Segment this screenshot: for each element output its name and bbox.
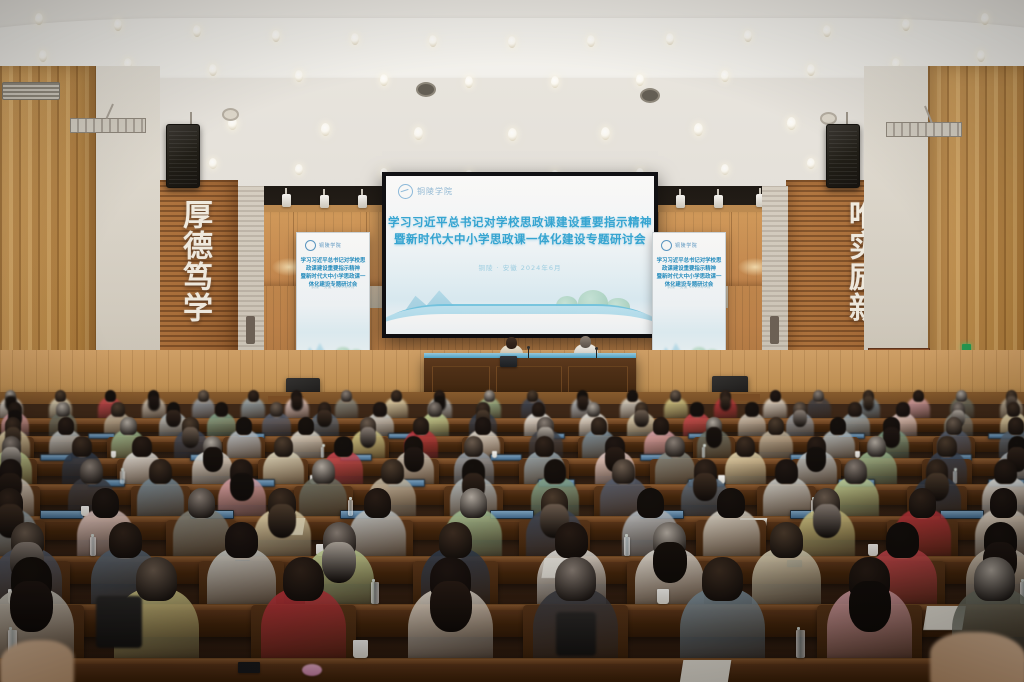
banner-logo-left: 铜陵学院 (305, 240, 341, 251)
audience-person-head (627, 390, 638, 403)
ceiling-downlight (272, 30, 280, 42)
water-bottle (702, 447, 706, 458)
audience-person-head (105, 390, 116, 403)
audience-person-head (670, 390, 681, 403)
audience-person-head (225, 522, 258, 558)
audience-person-long-hair (634, 410, 648, 427)
ceiling-downlight (193, 25, 201, 37)
audience-person-head (215, 402, 229, 417)
audience-person-head (896, 402, 910, 417)
audience-desk (0, 658, 1024, 682)
speaker-grill (169, 128, 197, 184)
audience-person-head (1008, 417, 1024, 435)
audience-person-head (198, 390, 209, 403)
water-bottle (348, 500, 353, 516)
audience-person-head (591, 417, 607, 435)
audience-person-head (745, 402, 759, 417)
ceiling-downlight (807, 64, 815, 76)
screen-title-line-2: 暨新时代大中小学思政课一体化建设专题研讨会 (386, 231, 654, 248)
ceiling-downlight (787, 117, 796, 130)
audience-person-head (55, 390, 66, 403)
audience-person-head (248, 390, 259, 403)
speaker-hanger-left (190, 112, 192, 124)
university-emblem-icon (305, 240, 316, 251)
lighting-truss-left (70, 118, 146, 133)
ceiling-downlight (807, 158, 815, 169)
audience-person-head (464, 436, 483, 457)
audience-person-long-hair (720, 396, 732, 410)
audience-person-head (974, 557, 1015, 601)
audience-person-head (848, 402, 862, 417)
audience-person-long-hair (203, 447, 223, 471)
ceiling-downlight (295, 70, 303, 82)
audience-person-long-hair (360, 427, 377, 447)
smartphone (238, 662, 260, 673)
audience-person-long-hair (793, 410, 807, 427)
audience-person-head (913, 390, 924, 403)
audience-person-head (413, 417, 429, 435)
audience-person-head (555, 522, 588, 558)
audience-person-head (460, 488, 487, 518)
ceiling-downlight (508, 36, 516, 48)
audience-person-head (702, 557, 743, 601)
ceiling-downlight (551, 76, 559, 88)
podium-trim (424, 353, 636, 358)
ceiling-downlight (981, 13, 989, 25)
audience-person-head (990, 488, 1017, 518)
audience-person-long-hair (863, 396, 875, 410)
audience-person-head (587, 402, 601, 417)
paper-cup (353, 640, 368, 659)
foreground-arm-right (930, 632, 1024, 682)
audience-person-head (58, 417, 74, 435)
backpack (556, 612, 596, 656)
audience-person-head (475, 417, 491, 435)
ceiling-downlight (39, 50, 47, 62)
paper-sheet (678, 660, 731, 682)
stage-spotlight (676, 195, 685, 208)
audience-person-head (532, 402, 546, 417)
speaker-grill (829, 128, 857, 184)
ceiling-downlight (902, 19, 910, 31)
wall-calligraphy-left: 厚德笃学 (152, 186, 212, 336)
microphone-icon (527, 346, 530, 349)
audience-person-long-hair (404, 447, 424, 471)
banner-logo-right: 铜陵学院 (661, 240, 697, 251)
audience-person-long-hair (230, 473, 254, 502)
audience-person-head (830, 417, 846, 435)
screen-title-line-1: 学习习近平总书记对学校思政课建设重要指示精神 (386, 214, 654, 231)
ceiling-downlight (587, 35, 595, 47)
audience-person-head (270, 402, 284, 417)
conference-hall-photo: 厚德笃学 唯实励新 铜陵学院 学习习近平总书记对学校思政课建设重要指示精神 暨新… (0, 0, 1024, 682)
screen-wave-3 (386, 314, 654, 334)
ceiling-diffuser-left (222, 108, 239, 121)
audience-person-long-hair (182, 427, 199, 447)
ceiling-downlight (351, 33, 359, 45)
audience-person-head (341, 390, 352, 403)
ceiling-downlight (380, 74, 388, 86)
audience-person-head (136, 557, 177, 601)
audience-person-head (768, 417, 784, 435)
pilaster-niche-left (246, 316, 255, 344)
audience-person-head (391, 390, 402, 403)
audience-person-long-hair (10, 581, 52, 632)
audience-person-head (665, 436, 684, 457)
air-vent-left (2, 82, 60, 100)
projection-screen-frame: 铜陵学院 学习习近平总书记对学校思政课建设重要指示精神 暨新时代大中小学思政课一… (382, 172, 658, 338)
panelist-laptop (500, 356, 517, 367)
audience-person-head (690, 402, 704, 417)
audience-person-head (844, 459, 867, 484)
tote-bag (96, 596, 142, 648)
audience-person-head (111, 402, 125, 417)
panelist-head (506, 337, 517, 349)
audience-person-head (612, 459, 635, 484)
audience-person-head (956, 390, 967, 403)
banner-logo-wordmark: 铜陵学院 (319, 242, 341, 249)
screen-logo-wordmark: 铜陵学院 (417, 186, 453, 197)
audience-person-head (283, 557, 324, 601)
audience-desk (0, 418, 1024, 432)
water-bottle (90, 537, 96, 556)
audience-person-head (312, 459, 335, 484)
ceiling-downlight (823, 25, 831, 37)
audience-person-head (1007, 402, 1021, 417)
audience-person-head (373, 402, 387, 417)
audience-person-head (274, 436, 293, 457)
audience-person-head (544, 459, 567, 484)
banner-logo-wordmark: 铜陵学院 (675, 242, 697, 249)
audience-person-head (946, 417, 962, 435)
ceiling-downlight (636, 74, 644, 86)
ceiling-vent-right (640, 88, 660, 103)
audience-person-head (653, 417, 669, 435)
water-bottle (624, 537, 630, 556)
projection-screen: 铜陵学院 学习习近平总书记对学校思政课建设重要指示精神 暨新时代大中小学思政课一… (386, 176, 654, 334)
audience-person-head (109, 522, 142, 558)
audience-person-head (298, 417, 314, 435)
desk-monitor (40, 510, 84, 519)
desk-top-edge (0, 419, 1024, 424)
audience-person-head (770, 522, 803, 558)
pink-case (302, 664, 322, 676)
audience-person-long-hair (148, 396, 160, 410)
banner-title-line-1: 学习习近平总书记对学校思政课建设重要指示精神 (655, 257, 723, 273)
audience-person-head (555, 557, 596, 601)
audience-person-long-hair (322, 542, 356, 583)
audience-person-head (484, 390, 495, 403)
audience-person-head (428, 402, 442, 417)
lighting-truss-right (886, 122, 962, 137)
audience-person-long-hair (268, 504, 296, 538)
screen-subtitle: 铜陵 · 安徽 2024年6月 (386, 262, 654, 272)
mic-stand (596, 349, 597, 358)
university-emblem-icon (661, 240, 672, 251)
desk-monitor (940, 510, 984, 519)
audience-person-head (56, 402, 70, 417)
audience-person-long-hair (693, 473, 717, 502)
line-array-speaker-right (826, 124, 860, 188)
audience-person-head (717, 488, 744, 518)
audience-person-head (92, 488, 119, 518)
audience-person-head (867, 436, 886, 457)
pilaster-niche-right (770, 316, 779, 344)
banner-title-line-1: 学习习近平总书记对学校思政课建设重要指示精神 (299, 257, 367, 273)
audience-person-head (72, 436, 91, 457)
audience-person-head (637, 488, 664, 518)
audience-person-head (813, 390, 824, 403)
stage-spotlight (282, 194, 291, 207)
audience-person-long-hair (291, 396, 303, 410)
university-emblem-icon (398, 184, 413, 199)
stage-spotlight (320, 195, 329, 208)
banner-subtitle-left: 铜陵 · 安徽 2024年6月 (297, 285, 369, 290)
ceiling-downlight (694, 123, 703, 136)
audience-person-head (736, 436, 755, 457)
audience-person-head (80, 459, 103, 484)
audience-person-head (535, 436, 554, 457)
ceiling-downlight (744, 30, 752, 42)
audience-person-long-hair (849, 581, 891, 632)
audience-person-head (886, 522, 919, 558)
banner-subtitle-right: 铜陵 · 安徽 2024年6月 (653, 285, 725, 290)
audience-person-head (132, 436, 151, 457)
audience-person-long-hair (706, 427, 723, 447)
desk-top-edge (0, 659, 1024, 664)
audience-person-long-hair (166, 410, 180, 427)
ceiling-downlight (601, 127, 610, 140)
ceiling-downlight (666, 33, 674, 45)
stage-spotlight (358, 195, 367, 208)
audience-person-head (994, 459, 1017, 484)
stage-spotlight (714, 195, 723, 208)
ceiling-downlight (508, 128, 517, 141)
ceiling-vent-left (416, 82, 436, 97)
speaker-hanger-right (846, 112, 848, 124)
audience-person-head (334, 436, 353, 457)
paper-cup (868, 544, 878, 556)
paper-cup (657, 589, 669, 604)
panelist-head (580, 336, 591, 348)
audience-person-head (439, 522, 472, 558)
water-bottle (321, 447, 325, 458)
audience-person-head (381, 459, 404, 484)
paper-cup (492, 451, 498, 458)
microphone-icon (595, 347, 598, 350)
screen-title: 学习习近平总书记对学校思政课建设重要指示精神 暨新时代大中小学思政课一体化建设专… (386, 214, 654, 248)
ceiling-downlight (295, 164, 303, 175)
audience-person-head (364, 488, 391, 518)
water-bottle (371, 582, 379, 605)
paper-cup (111, 451, 117, 458)
foreground-arm-left (0, 640, 74, 682)
wood-panel-seam (731, 212, 732, 286)
audience-person-long-hair (806, 447, 826, 471)
audience-person-head (770, 390, 781, 403)
audience-person-head (527, 390, 538, 403)
audience-person-head (775, 459, 798, 484)
audience-person-long-hair (317, 410, 331, 427)
audience-person-head (909, 488, 936, 518)
audience-person-head (120, 417, 136, 435)
audience-desk (0, 516, 1024, 540)
audience-person-head (937, 436, 956, 457)
screen-university-logo: 铜陵学院 (398, 184, 453, 199)
audience-person-long-hair (813, 504, 841, 538)
water-bottle (120, 471, 124, 484)
audience-person-head (149, 459, 172, 484)
audience-person-head (188, 488, 215, 518)
line-array-speaker-left (166, 124, 200, 188)
water-bottle (796, 630, 805, 658)
audience-person-long-hair (430, 581, 472, 632)
mic-stand (528, 348, 529, 358)
audience-person-long-hair (653, 542, 687, 583)
desk-monitor (490, 510, 534, 519)
audience-person-head (236, 417, 252, 435)
